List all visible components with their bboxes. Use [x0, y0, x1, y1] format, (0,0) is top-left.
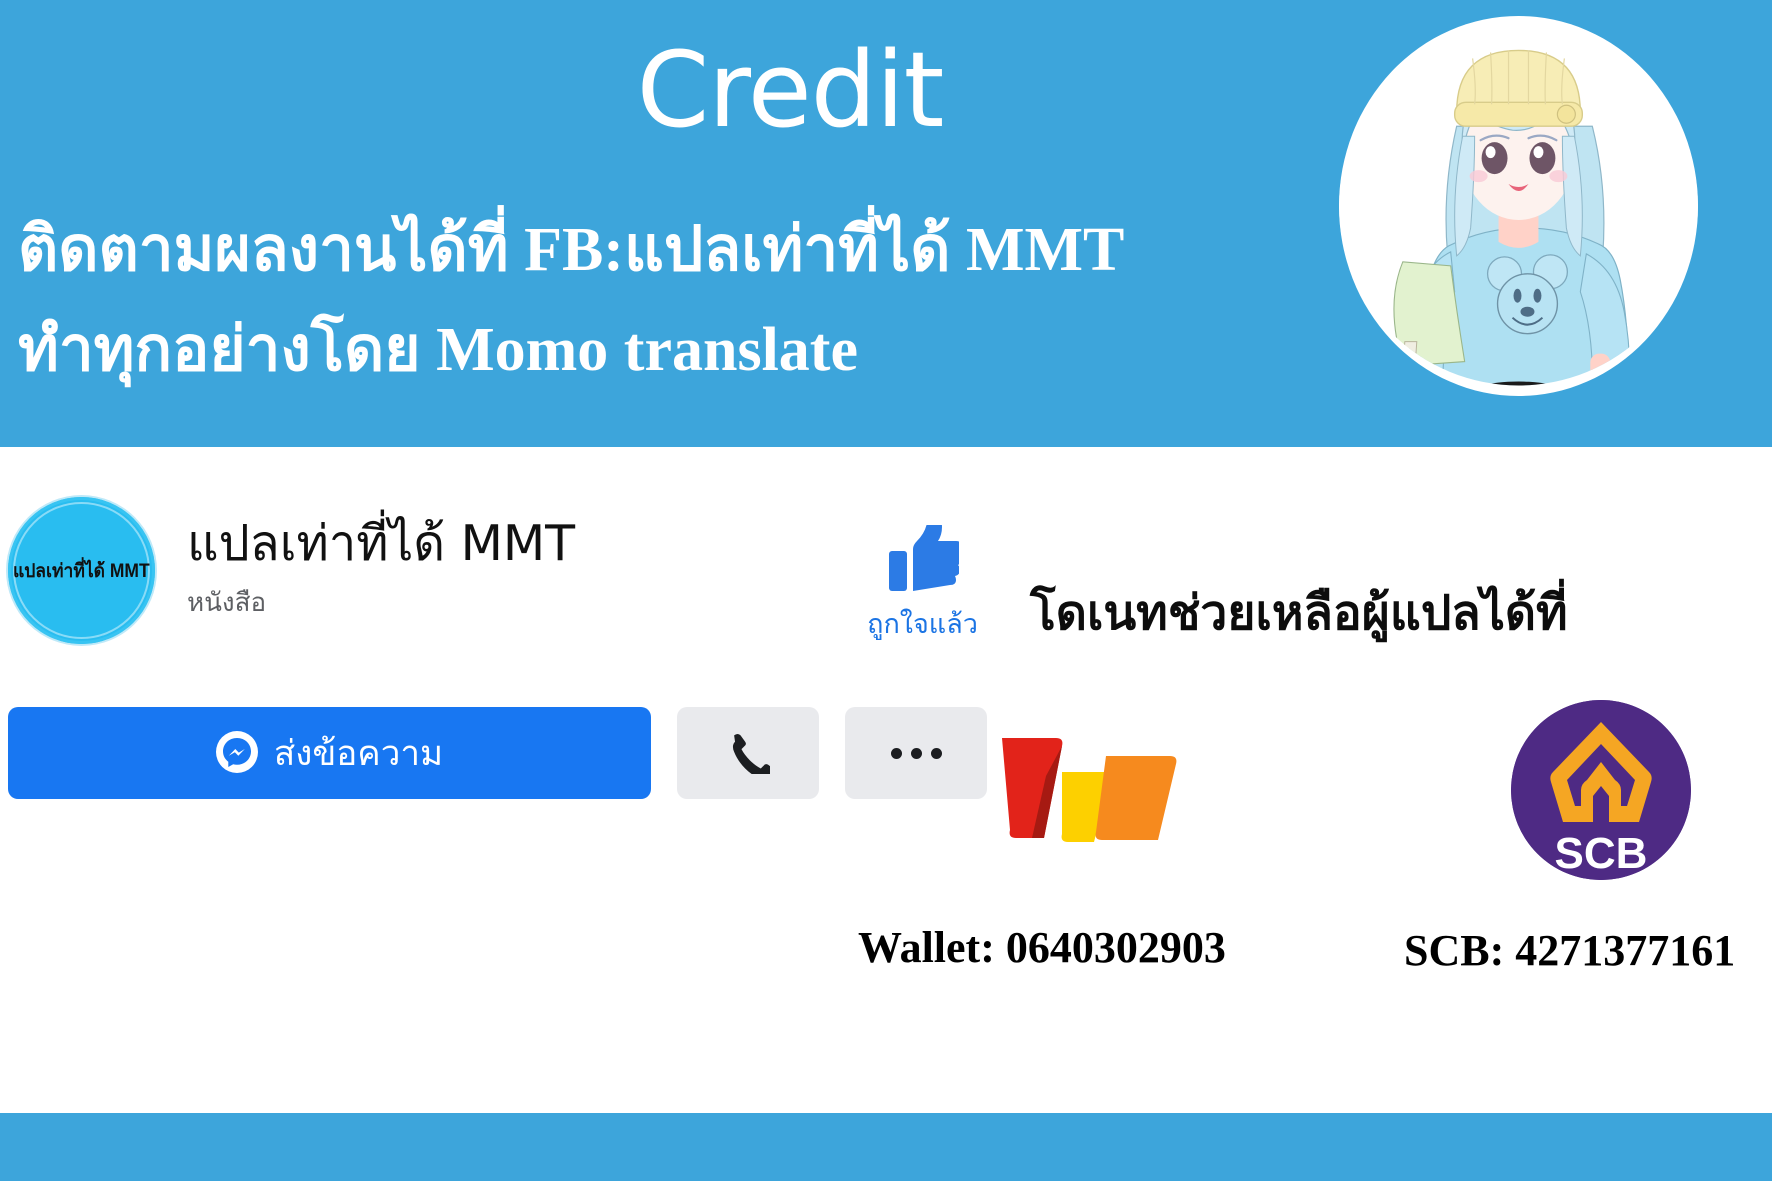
- credit-banner: Credit ติดตามผลงานได้ที่ FB:แปลเท่าที่ได…: [0, 0, 1772, 447]
- like-label: ถูกใจแล้ว: [835, 602, 1010, 645]
- scb-logo-text: SCB: [1555, 829, 1648, 878]
- ellipsis-icon: [891, 748, 942, 759]
- page-actions: ส่งข้อความ: [8, 707, 987, 799]
- banner-follow-line: ติดตามผลงานได้ที่ FB:แปลเท่าที่ได้ MMT: [18, 200, 1124, 298]
- scb-bank-logo: SCB: [1511, 700, 1691, 880]
- banner-title: Credit: [0, 38, 1580, 142]
- like-status[interactable]: ถูกใจแล้ว: [835, 525, 1010, 645]
- send-message-label: ส่งข้อความ: [274, 726, 443, 781]
- page-name[interactable]: แปลเท่าที่ได้ MMT: [187, 518, 575, 569]
- page-avatar[interactable]: แปลเท่าที่ได้ MMT: [8, 497, 155, 644]
- truemoney-wallet-logo: [998, 730, 1183, 845]
- donate-heading: โดเนทช่วยเหลือผู้แปลได้ที่: [1030, 575, 1568, 651]
- wallet-account-label: Wallet: 0640302903: [858, 922, 1226, 973]
- send-message-button[interactable]: ส่งข้อความ: [8, 707, 651, 799]
- anime-girl-avatar: [1339, 16, 1698, 396]
- banner-credit-line: ทำทุกอย่างโดย Momo translate: [18, 300, 858, 398]
- phone-icon: [726, 730, 770, 777]
- page-category: หนังสือ: [187, 582, 575, 623]
- page-identity[interactable]: แปลเท่าที่ได้ MMT แปลเท่าที่ได้ MMT หนัง…: [8, 497, 575, 644]
- facebook-page-card: แปลเท่าที่ได้ MMT แปลเท่าที่ได้ MMT หนัง…: [0, 447, 1772, 1113]
- page-avatar-label: แปลเท่าที่ได้ MMT: [13, 556, 150, 586]
- more-options-button[interactable]: [845, 707, 987, 799]
- thumbs-up-icon: [835, 525, 1010, 598]
- footer-bar: [0, 1113, 1772, 1181]
- messenger-icon: [216, 731, 258, 776]
- call-button[interactable]: [677, 707, 819, 799]
- page-meta: แปลเท่าที่ได้ MMT หนังสือ: [187, 518, 575, 622]
- scb-account-label: SCB: 4271377161: [1404, 925, 1735, 976]
